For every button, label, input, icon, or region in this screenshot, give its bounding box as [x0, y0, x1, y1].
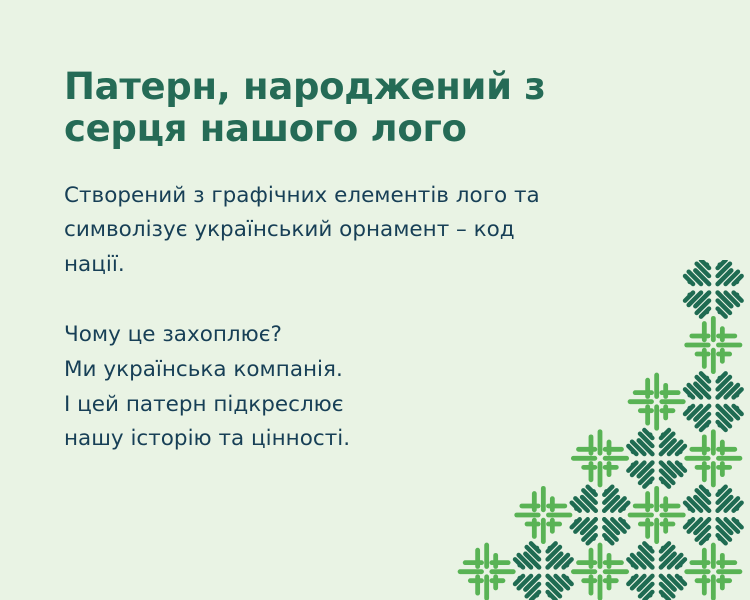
dashed-cross-motif [687, 432, 740, 485]
slide-canvas: Патерн, народжений з серця нашого лого С… [0, 0, 750, 600]
body-copy: Створений з графічних елементів лого та … [64, 179, 664, 458]
hatch-square-motif [515, 543, 572, 600]
hatch-square-motif [628, 543, 685, 600]
paragraph-why: Чому це захоплює? Ми українська компанія… [64, 318, 664, 457]
paragraph-intro: Створений з графічних елементів лого та … [64, 179, 664, 283]
hatch-square-motif [572, 487, 629, 544]
hatch-square-motif [685, 487, 742, 544]
dashed-cross-motif [630, 488, 683, 541]
hatch-square-motif [685, 260, 742, 317]
dashed-cross-motif [687, 545, 740, 598]
page-title: Патерн, народжений з серця нашого лого [64, 66, 664, 150]
dashed-cross-motif [687, 318, 740, 371]
hatch-square-motif [685, 373, 742, 430]
dashed-cross-motif [460, 545, 513, 598]
dashed-cross-motif [517, 488, 570, 541]
dashed-cross-motif [573, 545, 626, 598]
text-column: Патерн, народжений з серця нашого лого С… [64, 66, 664, 457]
